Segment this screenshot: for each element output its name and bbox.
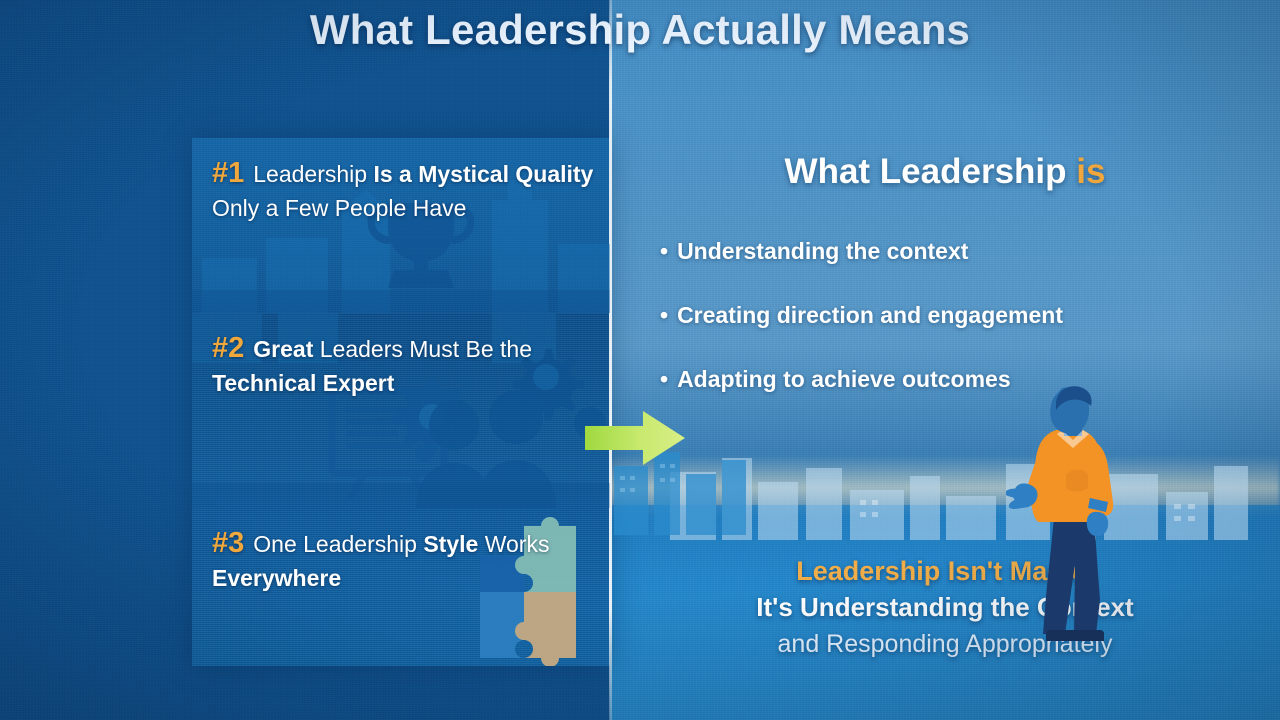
myth-3-part-0: One Leadership (253, 531, 423, 557)
myth-3-part-3: Everywhere (212, 565, 341, 591)
list-item: •Understanding the context (660, 238, 1220, 265)
myth-3-text: #3One Leadership Style Works Everywhere (212, 526, 600, 595)
slide-canvas: What Leadership Actually Means (0, 0, 1280, 720)
list-item: •Adapting to achieve outcomes (660, 366, 1220, 393)
right-arrow-icon (583, 409, 687, 467)
myth-3-part-2: Works (485, 531, 550, 557)
myth-2-part-0: Great (253, 336, 319, 362)
conclusion-line-3: and Responding Appropriately (610, 626, 1280, 663)
person-illustration (1006, 386, 1136, 652)
bullet-text: Adapting to achieve outcomes (677, 366, 1011, 392)
myth-item-3[interactable]: #3One Leadership Style Works Everywhere (192, 508, 610, 666)
slide-title: What Leadership Actually Means (0, 6, 1280, 54)
leadership-is-list: •Understanding the context •Creating dir… (660, 238, 1220, 430)
myth-1-part-2: Only a Few People Have (212, 195, 466, 221)
right-heading-main: What Leadership (785, 152, 1077, 191)
myth-1-part-0: Leadership (253, 161, 373, 187)
conclusion-line-1: Leadership Isn't Magic. (610, 553, 1280, 589)
bullet-text: Understanding the context (677, 238, 968, 264)
bullet-marker: • (660, 238, 668, 264)
list-item: •Creating direction and engagement (660, 302, 1220, 329)
myth-2-number: #2 (212, 332, 244, 364)
myth-item-1[interactable]: #1Leadership Is a Mystical Quality Only … (192, 138, 610, 313)
myth-1-number: #1 (212, 157, 244, 189)
myth-3-part-1: Style (423, 531, 484, 557)
conclusion-block: Leadership Isn't Magic. It's Understandi… (610, 553, 1280, 663)
bullet-marker: • (660, 302, 668, 328)
myths-panel: #1Leadership Is a Mystical Quality Only … (192, 138, 610, 666)
bullet-text: Creating direction and engagement (677, 302, 1063, 328)
myth-2-text: #2Great Leaders Must Be the Technical Ex… (212, 331, 600, 400)
myth-item-2[interactable]: #2Great Leaders Must Be the Technical Ex… (192, 313, 610, 508)
myth-3-number: #3 (212, 527, 244, 559)
conclusion-line-2: It's Understanding the Context (610, 589, 1280, 626)
right-heading-accent: is (1076, 152, 1105, 191)
myth-1-part-1: Is a Mystical Quality (373, 161, 593, 187)
myth-1-text: #1Leadership Is a Mystical Quality Only … (212, 156, 600, 225)
right-panel-heading: What Leadership is (610, 152, 1280, 192)
bullet-marker: • (660, 366, 668, 392)
myth-2-part-2: Technical Expert (212, 370, 394, 396)
myth-2-part-1: Leaders Must Be the (320, 336, 532, 362)
